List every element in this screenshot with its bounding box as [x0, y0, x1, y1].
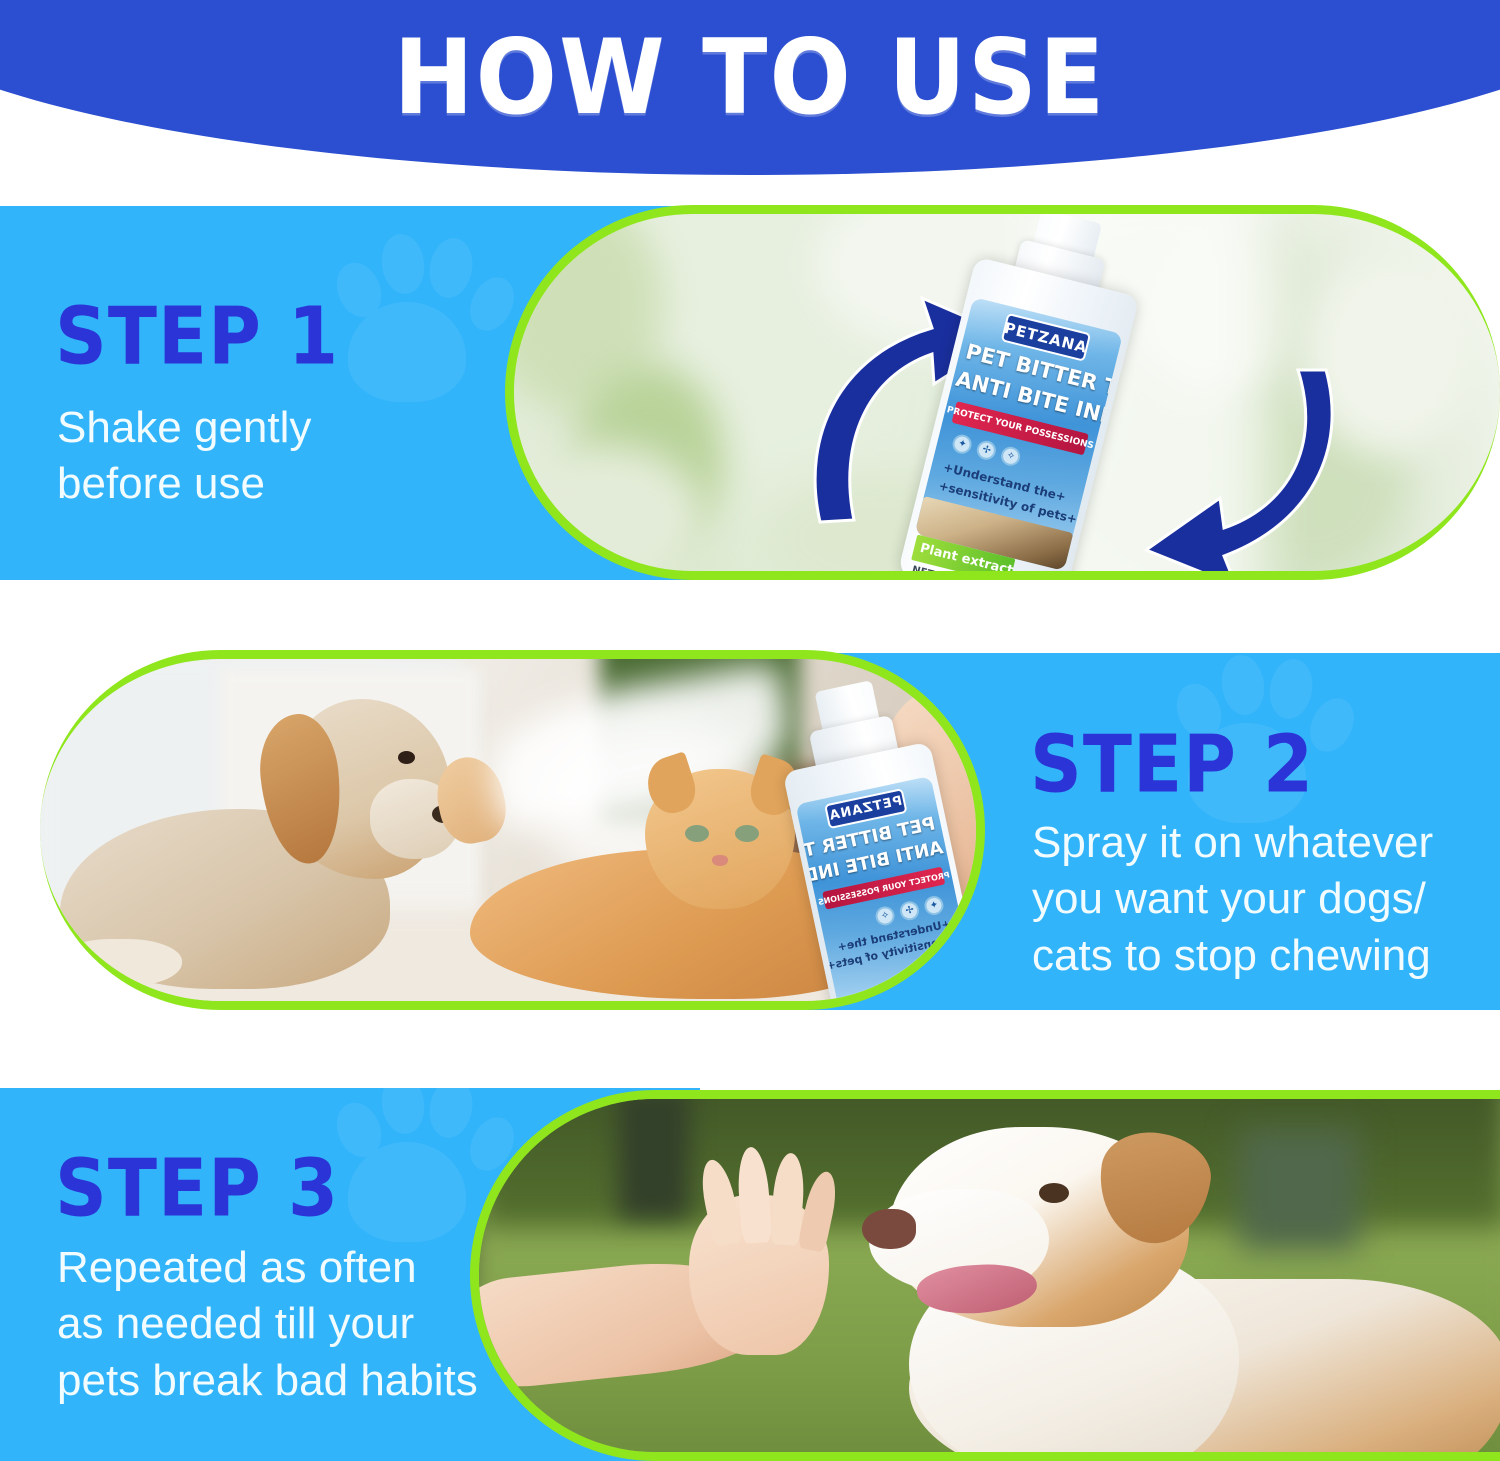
feature-icon-2: ✢ [975, 439, 998, 462]
step-2-desc-line-1: Spray it on whatever [1032, 815, 1500, 871]
step-2-photo: PETZANA PET BITTER TASTE ANTI BITE INDUC… [40, 650, 985, 1010]
cat-eye-left [685, 825, 709, 842]
step-1-desc-line-1: Shake gently [57, 400, 477, 456]
step-3-label: STEP 3 [55, 1142, 339, 1234]
feature-icon-3: ✧ [999, 445, 1022, 468]
curved-arrow-down-icon [1112, 364, 1372, 571]
dog-nose [862, 1209, 916, 1249]
cat-eye-right [735, 825, 759, 842]
step-1-description: Shake gently before use [57, 400, 477, 513]
step-2-desc-line-2: you want your dogs/ [1032, 871, 1500, 927]
cat-nose [712, 855, 728, 866]
feature-icon-2: ✢ [898, 899, 921, 922]
feature-icon-3: ✧ [874, 904, 897, 927]
step-1-label: STEP 1 [55, 290, 339, 382]
step-2-photo-inner: PETZANA PET BITTER TASTE ANTI BITE INDUC… [40, 659, 976, 1001]
step-3-description: Repeated as often as needed till your pe… [57, 1240, 537, 1409]
step-2-label: STEP 2 [1030, 718, 1314, 810]
step-3-desc-line-1: Repeated as often [57, 1240, 537, 1296]
feature-icon-1: ✦ [923, 894, 946, 917]
page-title: HOW TO USE [0, 18, 1500, 138]
step-2-desc-line-3: cats to stop chewing [1032, 928, 1500, 984]
step-1-photo: PETZANA PET BITTER TASTE ANTI BITE INDUC… [505, 205, 1500, 580]
step-1-desc-line-2: before use [57, 456, 477, 512]
step-1-photo-inner: PETZANA PET BITTER TASTE ANTI BITE INDUC… [514, 214, 1500, 571]
feature-icon-1: ✦ [951, 433, 974, 456]
paw-print-icon [330, 224, 520, 424]
step-3-desc-line-2: as needed till your [57, 1296, 537, 1352]
beagle-eye [398, 751, 415, 764]
step-3-desc-line-3: pets break bad habits [57, 1353, 537, 1409]
dog-eye [1039, 1183, 1069, 1203]
page-header: HOW TO USE [0, 0, 1500, 175]
step-3-photo-inner [479, 1099, 1500, 1452]
step-3-photo [470, 1090, 1500, 1461]
background-figure [619, 1099, 689, 1219]
background-bokeh [1239, 1129, 1359, 1249]
beagle-paw [62, 939, 182, 987]
feature-icons: ✦ ✢ ✧ [951, 433, 1023, 468]
step-2-description: Spray it on whatever you want your dogs/… [1032, 815, 1500, 984]
